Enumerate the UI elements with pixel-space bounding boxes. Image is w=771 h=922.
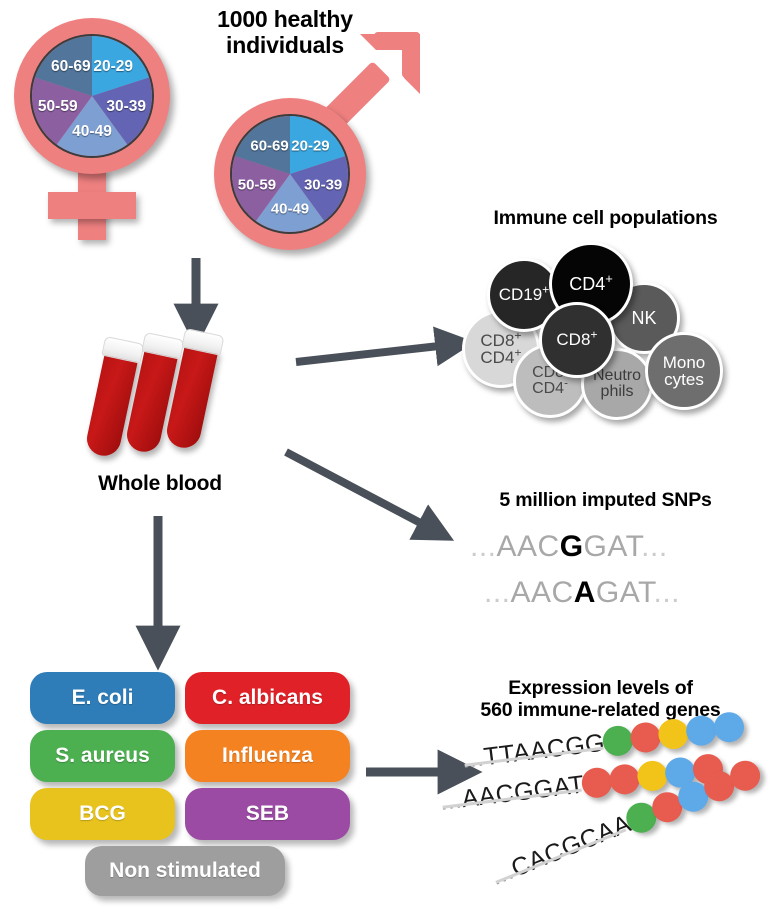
stimulus-label: E. coli [72,686,134,710]
immune-cell-label: CD4+ [569,275,613,293]
expression-bead [636,759,669,792]
stimulus-non-stimulated[interactable]: Non stimulated [85,846,285,896]
snp-allele-1: ...AACGGAT... [470,530,668,564]
immune-cell-label: Monocytes [663,354,706,389]
snp1-prefix-dots: ... [470,530,497,563]
strand-sequence: ...CACGCAA [487,809,636,892]
whole-blood-tubes [100,330,260,470]
immune-cell-label: NK [631,309,656,327]
snp1-suffix-dots: ... [641,530,668,563]
immune-cell-label: Neutrophils [593,368,641,401]
snp2-right: GAT [596,576,654,609]
snp1-right: GAT [584,530,642,563]
immune-cell-cd8-positive: CD8+ [539,302,615,378]
stimulus-s-aureus[interactable]: S. aureus [30,730,175,782]
expression-bead [657,717,690,750]
snp2-prefix-dots: ... [484,576,511,609]
stimulus-c-albicans[interactable]: C. albicans [185,672,350,724]
stimulus-label: C. albicans [212,686,323,710]
stimulus-influenza[interactable]: Influenza [185,730,350,782]
immune-cell-label: CD8+ [556,331,597,348]
stimulus-e-coli[interactable]: E. coli [30,672,175,724]
stimulus-seb[interactable]: SEB [185,788,350,840]
figure-canvas: 1000 healthy individuals Immune cell pop… [0,0,771,922]
stimulus-label: Non stimulated [109,859,261,883]
arrow-blood-to-snps [286,452,430,528]
stimulus-bcg[interactable]: BCG [30,788,175,840]
stimulus-label: Influenza [222,744,313,768]
snp1-variant: G [560,530,584,563]
immune-cell-cluster: CD19+CD4+CD8+CD4+CD8+NKCD8-CD4-Neutrophi… [465,240,771,420]
expression-bead [712,711,745,744]
expression-bead [684,714,717,747]
stimuli-panel: E. coliC. albicansS. aureusInfluenzaBCGS… [30,672,350,892]
arrow-blood-to-immune [296,345,448,362]
expression-bead [608,763,641,796]
snp1-left: AAC [497,530,560,563]
stimulus-label: S. aureus [55,744,150,768]
immune-cell-label: CD8+CD4+ [480,332,521,367]
snp2-variant: A [574,576,596,609]
snp-allele-2: ...AACAGAT... [484,576,680,610]
immune-cell-monocytes: Monocytes [645,332,723,410]
expression-strands: ...TTAACGG...AACGGAT...CACGCAA [440,735,771,915]
stimulus-label: BCG [79,802,126,826]
stimulus-label: SEB [246,802,289,826]
snp2-suffix-dots: ... [654,576,681,609]
snp2-left: AAC [511,576,574,609]
immune-cell-label: CD19+ [499,286,550,303]
expression-bead [629,721,662,754]
